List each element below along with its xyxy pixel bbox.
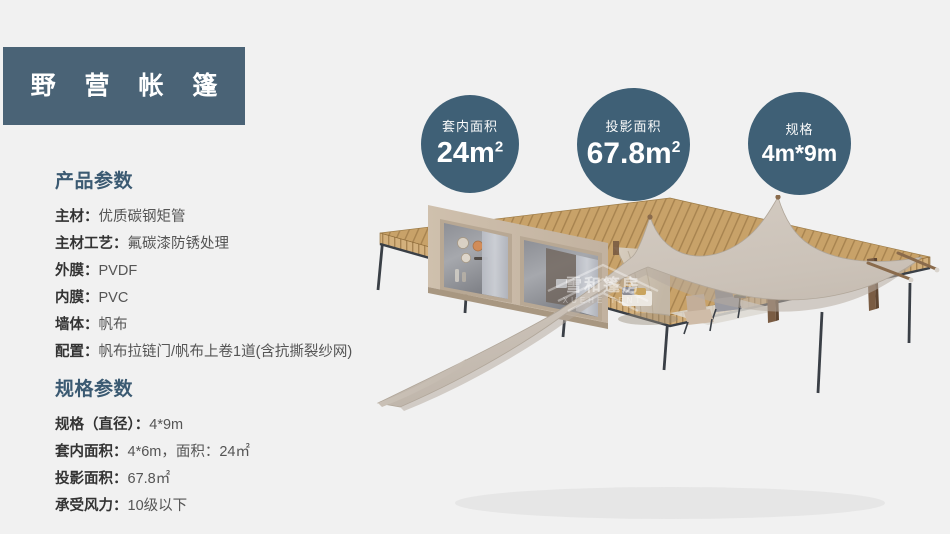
spec-row: 承受风力：10级以下 bbox=[55, 493, 250, 520]
spec-label: 外膜： bbox=[55, 263, 99, 279]
badge-indoor-area: 套内面积 24m2 bbox=[421, 95, 519, 193]
badge-number: 24 bbox=[437, 137, 469, 169]
spec-label: 规格（直径）： bbox=[55, 417, 149, 433]
spec-label: 主材工艺： bbox=[55, 236, 128, 252]
spec-value: 优质碳钢矩管 bbox=[99, 209, 186, 225]
spec-label: 主材： bbox=[55, 209, 99, 225]
product-photo: 雪和篷房 XUEHE TENT bbox=[370, 195, 950, 534]
spec-value: PVC bbox=[99, 290, 129, 306]
spec-label: 套内面积： bbox=[55, 444, 128, 460]
spec-value: 4*6m，面积：24㎡ bbox=[128, 444, 250, 460]
badge-caption: 套内面积 bbox=[442, 120, 498, 133]
badge-unit-exponent: 2 bbox=[495, 138, 503, 155]
badge-unit-exponent: 2 bbox=[672, 139, 681, 156]
ground-shadow bbox=[455, 487, 885, 519]
product-parameters-section: 产品参数 主材：优质碳钢矩管 主材工艺：氟碳漆防锈处理 外膜：PVDF 内膜：P… bbox=[55, 172, 352, 366]
section-heading-size: 规格参数 bbox=[55, 380, 250, 399]
title-banner: 野 营 帐 篷 bbox=[3, 47, 245, 125]
section-heading-product: 产品参数 bbox=[55, 172, 352, 191]
badge-unit: m bbox=[645, 137, 672, 170]
badge-caption: 投影面积 bbox=[605, 120, 661, 133]
product-spec-page: 野 营 帐 篷 产品参数 主材：优质碳钢矩管 主材工艺：氟碳漆防锈处理 外膜：P… bbox=[0, 0, 950, 534]
spec-value: 4*9m bbox=[149, 417, 183, 433]
badge-spec: 规格 4m*9m bbox=[748, 92, 851, 195]
spec-row: 投影面积：67.8㎡ bbox=[55, 466, 250, 493]
spec-value: 67.8㎡ bbox=[128, 471, 171, 487]
badge-number: 4m*9m bbox=[762, 140, 837, 166]
spec-value: 帆布 bbox=[99, 317, 128, 333]
spec-row: 内膜：PVC bbox=[55, 285, 352, 312]
spec-row: 套内面积：4*6m，面积：24㎡ bbox=[55, 439, 250, 466]
badge-unit: m bbox=[469, 137, 495, 169]
spec-value: 氟碳漆防锈处理 bbox=[128, 236, 230, 252]
size-parameters-section: 规格参数 规格（直径）：4*9m 套内面积：4*6m，面积：24㎡ 投影面积：6… bbox=[55, 380, 250, 520]
tent-illustration bbox=[370, 195, 950, 534]
spec-label: 内膜： bbox=[55, 290, 99, 306]
spec-value: PVDF bbox=[99, 263, 138, 279]
spec-row: 主材工艺：氟碳漆防锈处理 bbox=[55, 231, 352, 258]
badge-projection-area: 投影面积 67.8m2 bbox=[577, 88, 690, 201]
spec-value: 10级以下 bbox=[128, 498, 188, 514]
badge-number: 67.8 bbox=[587, 137, 645, 170]
spec-label: 投影面积： bbox=[55, 471, 128, 487]
badge-value: 4m*9m bbox=[762, 142, 837, 165]
spec-row: 规格（直径）：4*9m bbox=[55, 412, 250, 439]
spec-row: 配置：帆布拉链门/帆布上卷1道(含抗撕裂纱网) bbox=[55, 339, 352, 366]
badge-value: 67.8m2 bbox=[587, 139, 681, 169]
spec-value: 帆布拉链门/帆布上卷1道(含抗撕裂纱网) bbox=[99, 344, 353, 360]
page-title: 野 营 帐 篷 bbox=[20, 74, 229, 99]
spec-label: 承受风力： bbox=[55, 498, 128, 514]
spec-label: 墙体： bbox=[55, 317, 99, 333]
spec-row: 外膜：PVDF bbox=[55, 258, 352, 285]
badge-caption: 规格 bbox=[785, 123, 813, 136]
spec-row: 主材：优质碳钢矩管 bbox=[55, 204, 352, 231]
badge-value: 24m2 bbox=[437, 139, 503, 168]
spec-label: 配置： bbox=[55, 344, 99, 360]
spec-row: 墙体：帆布 bbox=[55, 312, 352, 339]
